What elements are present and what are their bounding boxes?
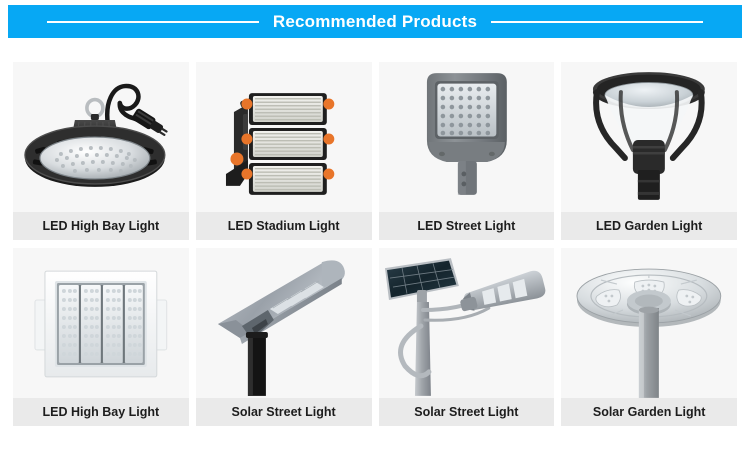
product-label: LED High Bay Light bbox=[13, 212, 189, 240]
street-light-head-image bbox=[379, 62, 555, 212]
product-grid-row: LED High Bay Light bbox=[13, 248, 737, 426]
ufo-high-bay-light-image bbox=[13, 62, 189, 212]
product-label: Solar Street Light bbox=[379, 398, 555, 426]
product-card[interactable]: LED Stadium Light bbox=[196, 62, 372, 240]
product-card[interactable]: LED Garden Light bbox=[561, 62, 737, 240]
product-grid-row: LED High Bay Light bbox=[13, 62, 737, 240]
product-image[interactable] bbox=[379, 62, 555, 212]
product-card[interactable]: Solar Garden Light bbox=[561, 248, 737, 426]
product-image[interactable] bbox=[561, 62, 737, 212]
product-label: Solar Street Light bbox=[196, 398, 372, 426]
product-image[interactable] bbox=[196, 248, 372, 398]
product-card[interactable]: Solar Street Light bbox=[379, 248, 555, 426]
all-in-one-solar-street-light-image bbox=[196, 248, 372, 398]
banner-rule-left-icon bbox=[47, 21, 259, 23]
section-header-banner: Recommended Products bbox=[8, 5, 742, 38]
split-solar-panel-street-light-image bbox=[379, 248, 555, 398]
product-image[interactable] bbox=[379, 248, 555, 398]
product-image[interactable] bbox=[13, 248, 189, 398]
product-label: Solar Garden Light bbox=[561, 398, 737, 426]
product-image[interactable] bbox=[13, 62, 189, 212]
solar-garden-disc-light-image bbox=[561, 248, 737, 398]
banner-rule-right-icon bbox=[491, 21, 703, 23]
product-card[interactable]: LED Street Light bbox=[379, 62, 555, 240]
product-image[interactable] bbox=[196, 62, 372, 212]
product-label: LED Garden Light bbox=[561, 212, 737, 240]
product-label: LED High Bay Light bbox=[13, 398, 189, 426]
canopy-high-bay-light-image bbox=[13, 248, 189, 398]
product-image[interactable] bbox=[561, 248, 737, 398]
product-grid: LED High Bay Light bbox=[13, 62, 737, 426]
product-card[interactable]: LED High Bay Light bbox=[13, 62, 189, 240]
product-label: LED Stadium Light bbox=[196, 212, 372, 240]
product-label: LED Street Light bbox=[379, 212, 555, 240]
product-card[interactable]: Solar Street Light bbox=[196, 248, 372, 426]
post-top-garden-light-image bbox=[561, 62, 737, 212]
product-card[interactable]: LED High Bay Light bbox=[13, 248, 189, 426]
page-title: Recommended Products bbox=[273, 12, 477, 32]
recommended-products-section: Recommended Products bbox=[0, 0, 750, 464]
stadium-flood-light-image bbox=[196, 62, 372, 212]
